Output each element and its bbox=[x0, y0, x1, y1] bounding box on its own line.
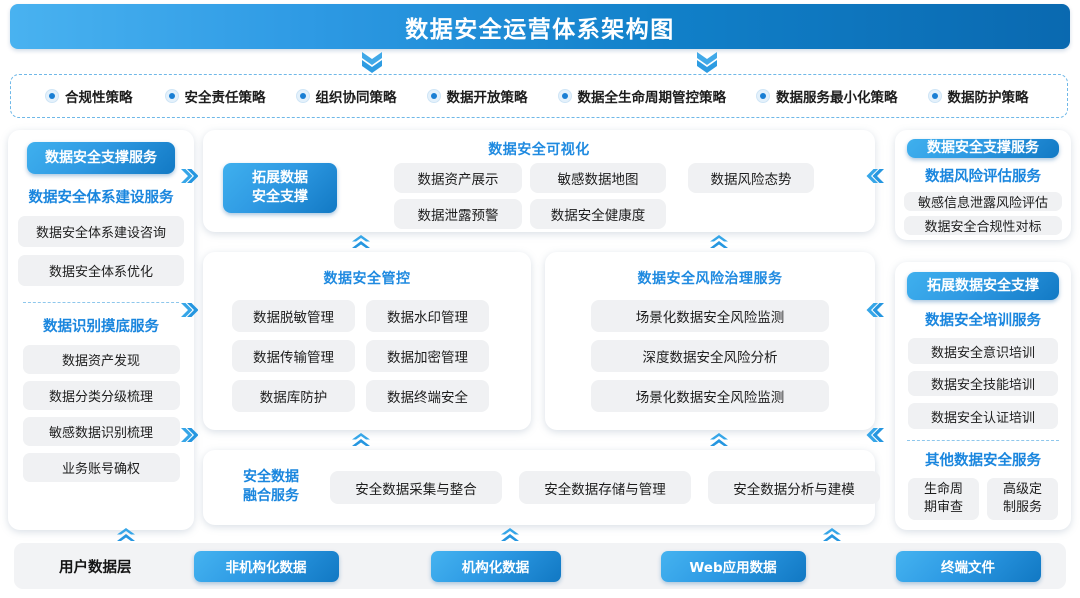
bullet-dot-icon bbox=[427, 89, 441, 103]
bullet-dot-icon bbox=[296, 89, 310, 103]
chevrons-left-icon-2 bbox=[866, 302, 884, 321]
chevrons-up-icon-1 bbox=[351, 234, 371, 253]
policy-label: 数据全生命周期管控策略 bbox=[578, 86, 727, 106]
bottom-item-3[interactable]: 终端文件 bbox=[896, 551, 1041, 582]
visualization-badge-line2: 安全支撑 bbox=[252, 188, 308, 207]
control-item-1[interactable]: 数据水印管理 bbox=[366, 300, 489, 332]
right-card-2-item-0[interactable]: 数据安全意识培训 bbox=[908, 338, 1058, 364]
chevrons-left-icon-3 bbox=[866, 427, 884, 446]
bottom-label: 用户数据层 bbox=[59, 556, 132, 577]
fusion-card: 安全数据 融合服务 安全数据采集与整合 安全数据存储与管理 安全数据分析与建模 bbox=[203, 450, 875, 525]
bottom-item-0[interactable]: 非机构化数据 bbox=[194, 551, 339, 582]
chevrons-left-icon-1 bbox=[866, 168, 884, 187]
right-card-1-badge[interactable]: 数据安全支撑服务 bbox=[907, 139, 1059, 158]
chevrons-right-icon-2 bbox=[180, 302, 198, 321]
policy-label: 数据防护策略 bbox=[948, 86, 1029, 106]
chevrons-right-icon-1 bbox=[180, 168, 198, 187]
chevrons-up-icon-3 bbox=[351, 432, 371, 451]
risk-card: 数据安全风险治理服务 场景化数据安全风险监测 深度数据安全风险分析 场景化数据安… bbox=[545, 252, 875, 430]
chevrons-up-icon-4 bbox=[709, 432, 729, 451]
visualization-item-1[interactable]: 敏感数据地图 bbox=[530, 163, 666, 193]
right-card-2-item-1[interactable]: 数据安全技能培训 bbox=[908, 371, 1058, 397]
right-card-1-title: 数据风险评估服务 bbox=[925, 165, 1041, 186]
page-title: 数据安全运营体系架构图 bbox=[405, 10, 675, 44]
risk-item-2[interactable]: 场景化数据安全风险监测 bbox=[591, 380, 829, 412]
policy-label: 组织协同策略 bbox=[316, 86, 397, 106]
left-header-badge[interactable]: 数据安全支撑服务 bbox=[27, 142, 175, 174]
control-item-4[interactable]: 数据库防护 bbox=[232, 380, 355, 412]
visualization-badge[interactable]: 拓展数据 安全支撑 bbox=[223, 163, 337, 213]
right-card-1-item-0[interactable]: 敏感信息泄露风险评估 bbox=[904, 192, 1062, 211]
other-item-1-line1: 高级定 bbox=[1003, 481, 1042, 499]
policy-strip: 合规性策略 安全责任策略 组织协同策略 数据开放策略 数据全生命周期管控策略 数… bbox=[10, 74, 1068, 118]
fusion-badge-line1: 安全数据 bbox=[223, 468, 319, 487]
diagram-root: 数据安全运营体系架构图 合规性策略 安全责任策略 组织协同策略 数据开放策略 数… bbox=[0, 0, 1080, 598]
right-card-2-item-2[interactable]: 数据安全认证培训 bbox=[908, 403, 1058, 429]
right-card-2: 拓展数据安全支撑 数据安全培训服务 数据安全意识培训 数据安全技能培训 数据安全… bbox=[895, 262, 1071, 530]
right-card-2-badge[interactable]: 拓展数据安全支撑 bbox=[907, 272, 1059, 300]
left-group-1-item-1[interactable]: 数据分类分级梳理 bbox=[23, 381, 180, 410]
control-item-2[interactable]: 数据传输管理 bbox=[232, 340, 355, 372]
divider bbox=[907, 440, 1059, 441]
bullet-dot-icon bbox=[928, 89, 942, 103]
right-card-2-other-item-0[interactable]: 生命周 期审查 bbox=[908, 478, 979, 520]
fusion-item-0[interactable]: 安全数据采集与整合 bbox=[330, 471, 502, 504]
left-group-0-item-0[interactable]: 数据安全体系建设咨询 bbox=[18, 216, 184, 247]
risk-item-0[interactable]: 场景化数据安全风险监测 bbox=[591, 300, 829, 332]
risk-item-1[interactable]: 深度数据安全风险分析 bbox=[591, 340, 829, 372]
left-group-1-item-2[interactable]: 敏感数据识别梳理 bbox=[23, 417, 180, 446]
visualization-item-3[interactable]: 数据泄露预警 bbox=[394, 199, 522, 229]
right-card-1: 数据安全支撑服务 数据风险评估服务 敏感信息泄露风险评估 数据安全合规性对标 bbox=[895, 130, 1071, 240]
chevrons-right-icon-3 bbox=[180, 427, 198, 446]
left-group-1-item-0[interactable]: 数据资产发现 bbox=[23, 345, 180, 374]
visualization-badge-line1: 拓展数据 bbox=[252, 169, 308, 188]
right-card-2-other-item-1[interactable]: 高级定 制服务 bbox=[987, 478, 1058, 520]
control-title: 数据安全管控 bbox=[203, 268, 531, 288]
fusion-badge: 安全数据 融合服务 bbox=[223, 468, 319, 506]
divider bbox=[23, 302, 179, 303]
right-card-2-other-title: 其他数据安全服务 bbox=[925, 449, 1041, 470]
left-group-1-item-3[interactable]: 业务账号确权 bbox=[23, 453, 180, 482]
other-item-0-line2: 期审查 bbox=[924, 499, 963, 517]
page-title-banner: 数据安全运营体系架构图 bbox=[10, 4, 1070, 49]
fusion-badge-line2: 融合服务 bbox=[223, 487, 319, 506]
bullet-dot-icon bbox=[558, 89, 572, 103]
policy-label: 数据开放策略 bbox=[447, 86, 528, 106]
policy-label: 安全责任策略 bbox=[185, 86, 266, 106]
right-card-2-other-row: 生命周 期审查 高级定 制服务 bbox=[908, 478, 1058, 520]
bullet-dot-icon bbox=[45, 89, 59, 103]
right-card-1-item-1[interactable]: 数据安全合规性对标 bbox=[904, 216, 1062, 235]
bottom-item-2[interactable]: Web应用数据 bbox=[661, 551, 806, 582]
policy-item-6[interactable]: 数据防护策略 bbox=[928, 86, 1029, 106]
policy-item-4[interactable]: 数据全生命周期管控策略 bbox=[558, 86, 727, 106]
policy-item-3[interactable]: 数据开放策略 bbox=[427, 86, 528, 106]
policy-item-2[interactable]: 组织协同策略 bbox=[296, 86, 397, 106]
control-item-3[interactable]: 数据加密管理 bbox=[366, 340, 489, 372]
bullet-dot-icon bbox=[165, 89, 179, 103]
other-item-0-line1: 生命周 bbox=[924, 481, 963, 499]
policy-label: 合规性策略 bbox=[65, 86, 133, 106]
bullet-dot-icon bbox=[756, 89, 770, 103]
fusion-item-1[interactable]: 安全数据存储与管理 bbox=[519, 471, 691, 504]
visualization-card: 数据安全可视化 拓展数据 安全支撑 数据资产展示 敏感数据地图 数据风险态势 数… bbox=[203, 130, 875, 232]
chevrons-up-icon-2 bbox=[709, 234, 729, 253]
policy-label: 数据服务最小化策略 bbox=[776, 86, 898, 106]
policy-item-0[interactable]: 合规性策略 bbox=[45, 86, 133, 106]
bottom-bar: 用户数据层 非机构化数据 机构化数据 Web应用数据 终端文件 bbox=[14, 543, 1066, 589]
visualization-item-2[interactable]: 数据风险态势 bbox=[688, 163, 814, 193]
right-card-2-title: 数据安全培训服务 bbox=[925, 309, 1041, 330]
left-group-0-title: 数据安全体系建设服务 bbox=[29, 186, 174, 207]
policy-item-5[interactable]: 数据服务最小化策略 bbox=[756, 86, 898, 106]
visualization-item-4[interactable]: 数据安全健康度 bbox=[530, 199, 666, 229]
visualization-title: 数据安全可视化 bbox=[203, 139, 875, 159]
control-item-0[interactable]: 数据脱敏管理 bbox=[232, 300, 355, 332]
control-item-5[interactable]: 数据终端安全 bbox=[366, 380, 489, 412]
left-group-1-title: 数据识别摸底服务 bbox=[43, 315, 159, 336]
risk-title: 数据安全风险治理服务 bbox=[545, 268, 875, 288]
bottom-item-1[interactable]: 机构化数据 bbox=[431, 551, 561, 582]
fusion-item-2[interactable]: 安全数据分析与建模 bbox=[708, 471, 880, 504]
policy-item-1[interactable]: 安全责任策略 bbox=[165, 86, 266, 106]
left-group-0-item-1[interactable]: 数据安全体系优化 bbox=[18, 255, 184, 286]
visualization-item-0[interactable]: 数据资产展示 bbox=[394, 163, 522, 193]
control-card: 数据安全管控 数据脱敏管理 数据水印管理 数据传输管理 数据加密管理 数据库防护… bbox=[203, 252, 531, 430]
left-column-card: 数据安全支撑服务 数据安全体系建设服务 数据安全体系建设咨询 数据安全体系优化 … bbox=[8, 130, 194, 530]
other-item-1-line2: 制服务 bbox=[1003, 499, 1042, 517]
